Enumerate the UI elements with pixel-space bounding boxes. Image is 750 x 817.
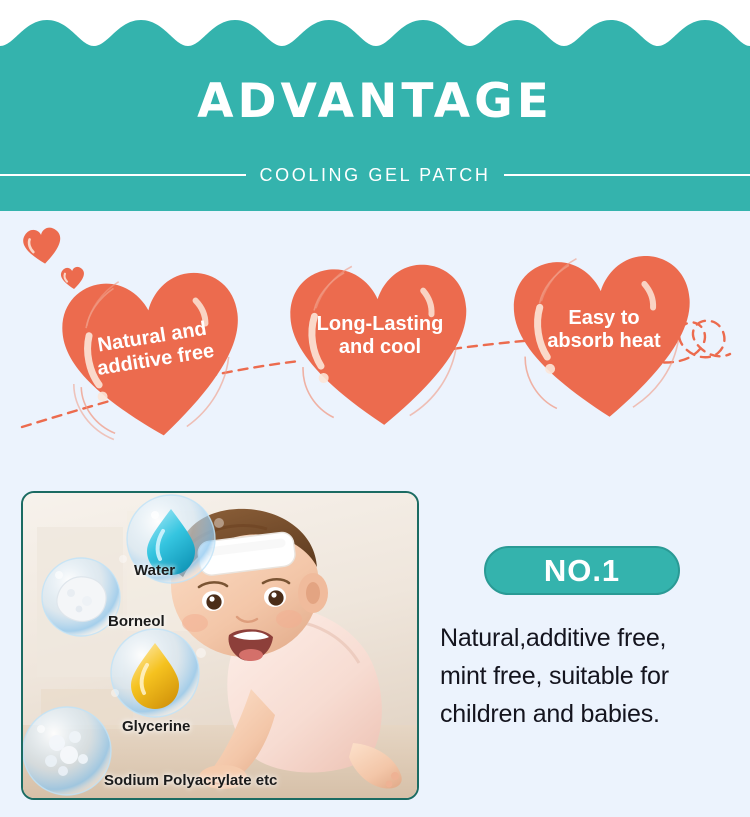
page-title: ADVANTAGE (0, 74, 750, 130)
header-subtitle: COOLING GEL PATCH (246, 165, 505, 186)
bubble-sodium (23, 707, 111, 795)
heart-shape-icon (512, 251, 696, 423)
info-description-line2: mint free, suitable for (440, 657, 730, 695)
header-banner: ADVANTAGE COOLING GEL PATCH (0, 0, 750, 211)
ingredient-label-water: Water (134, 562, 175, 579)
subtitle-row: COOLING GEL PATCH (0, 162, 750, 188)
feature-heart-long-lasting[interactable]: Long-Lasting and cool (288, 259, 472, 431)
ingredient-label-sodium-polyacrylate: Sodium Polyacrylate etc (104, 772, 277, 789)
feature-heart-absorb-heat[interactable]: Easy to absorb heat (512, 251, 696, 423)
baby-photo-illustration (23, 493, 417, 798)
ingredient-label-glycerine: Glycerine (122, 718, 190, 735)
info-panel: NO.1 Natural,additive free, mint free, s… (440, 491, 730, 800)
info-description: Natural,additive free, mint free, suitab… (440, 619, 730, 733)
subtitle-rule-left (0, 174, 246, 176)
subtitle-rule-right (504, 174, 750, 176)
info-description-line3: children and babies. (440, 695, 730, 733)
status-badge: NO.1 (484, 546, 680, 595)
ingredient-label-borneol: Borneol (108, 613, 165, 630)
feature-heart-natural[interactable]: Natural and additive free (62, 270, 246, 442)
info-description-line1: Natural,additive free, (440, 619, 730, 657)
heart-shape-icon (288, 259, 472, 431)
heart-shape-icon (62, 270, 246, 442)
features-hearts-row: Natural and additive free Long-Lasting a… (0, 211, 750, 471)
product-photo (21, 491, 419, 800)
